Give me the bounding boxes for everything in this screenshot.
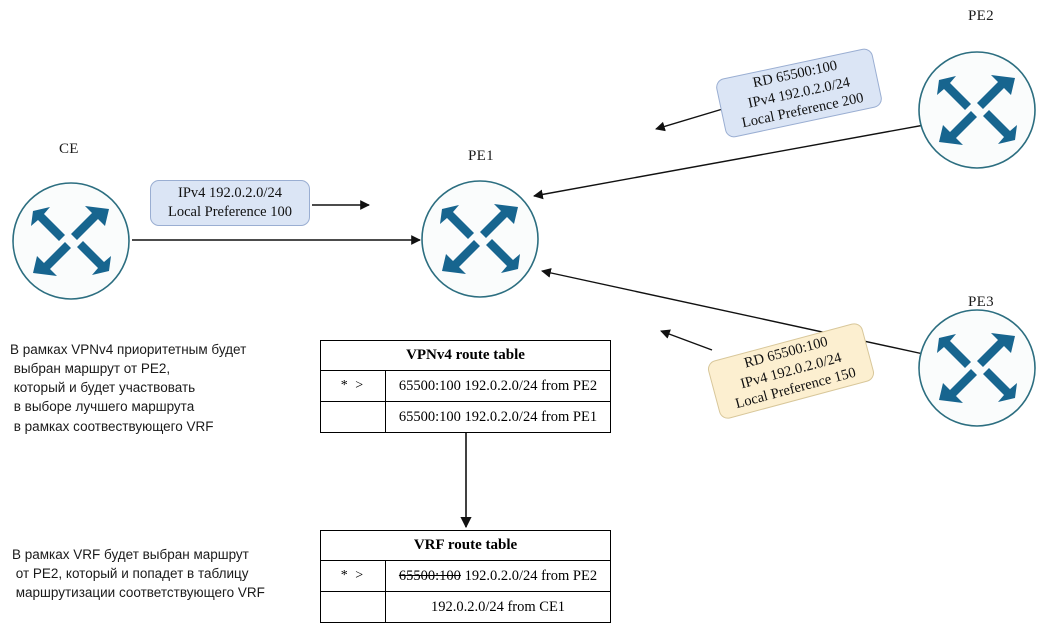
vpnv4-table-title: VPNv4 route table: [321, 341, 611, 371]
router-pe1[interactable]: [422, 181, 538, 297]
label-pe3: PE3: [968, 294, 994, 311]
callout-ce-advert: IPv4 192.0.2.0/24 Local Preference 100: [150, 180, 310, 226]
note-vrf-selection: В рамках VRF будет выбран маршрут от PE2…: [12, 545, 265, 602]
table-row: * > 65500:100 192.0.2.0/24 from PE2: [321, 561, 611, 592]
diagram-canvas: CE PE1 PE2 PE3 IPv4 192.0.2.0/24 Local P…: [0, 0, 1051, 644]
router-ce[interactable]: [13, 183, 129, 299]
vpnv4-row-1-flag: [321, 402, 386, 433]
callout-ce-line-1: IPv4 192.0.2.0/24: [178, 184, 282, 203]
label-pe1: PE1: [468, 148, 494, 165]
label-pe2: PE2: [968, 8, 994, 25]
vrf-table-title: VRF route table: [321, 531, 611, 561]
vpnv4-route-table: VPNv4 route table * > 65500:100 192.0.2.…: [320, 340, 611, 433]
table-header-row: VRF route table: [321, 531, 611, 561]
vrf-row-0-route: 65500:100 192.0.2.0/24 from PE2: [386, 561, 611, 592]
vrf-row-0-flag: * >: [321, 561, 386, 592]
vpnv4-row-0-flag: * >: [321, 371, 386, 402]
note-vpnv4-selection: В рамках VPNv4 приоритетным будет выбран…: [10, 340, 246, 436]
table-row: 65500:100 192.0.2.0/24 from PE1: [321, 402, 611, 433]
table-row: * > 65500:100 192.0.2.0/24 from PE2: [321, 371, 611, 402]
vrf-row-0-rd-struck: 65500:100: [399, 568, 461, 584]
vpnv4-row-1-route: 65500:100 192.0.2.0/24 from PE1: [386, 402, 611, 433]
router-pe3[interactable]: [919, 310, 1035, 426]
vrf-row-1-route: 192.0.2.0/24 from CE1: [386, 592, 611, 623]
table-row: 192.0.2.0/24 from CE1: [321, 592, 611, 623]
label-ce: CE: [59, 141, 79, 158]
vrf-row-0-prefix: 192.0.2.0/24 from PE2: [461, 568, 597, 584]
callout-ce-line-2: Local Preference 100: [168, 203, 292, 222]
table-header-row: VPNv4 route table: [321, 341, 611, 371]
vrf-route-table: VRF route table * > 65500:100 192.0.2.0/…: [320, 530, 611, 623]
vpnv4-row-0-route: 65500:100 192.0.2.0/24 from PE2: [386, 371, 611, 402]
router-pe2[interactable]: [919, 52, 1035, 168]
vrf-row-1-flag: [321, 592, 386, 623]
